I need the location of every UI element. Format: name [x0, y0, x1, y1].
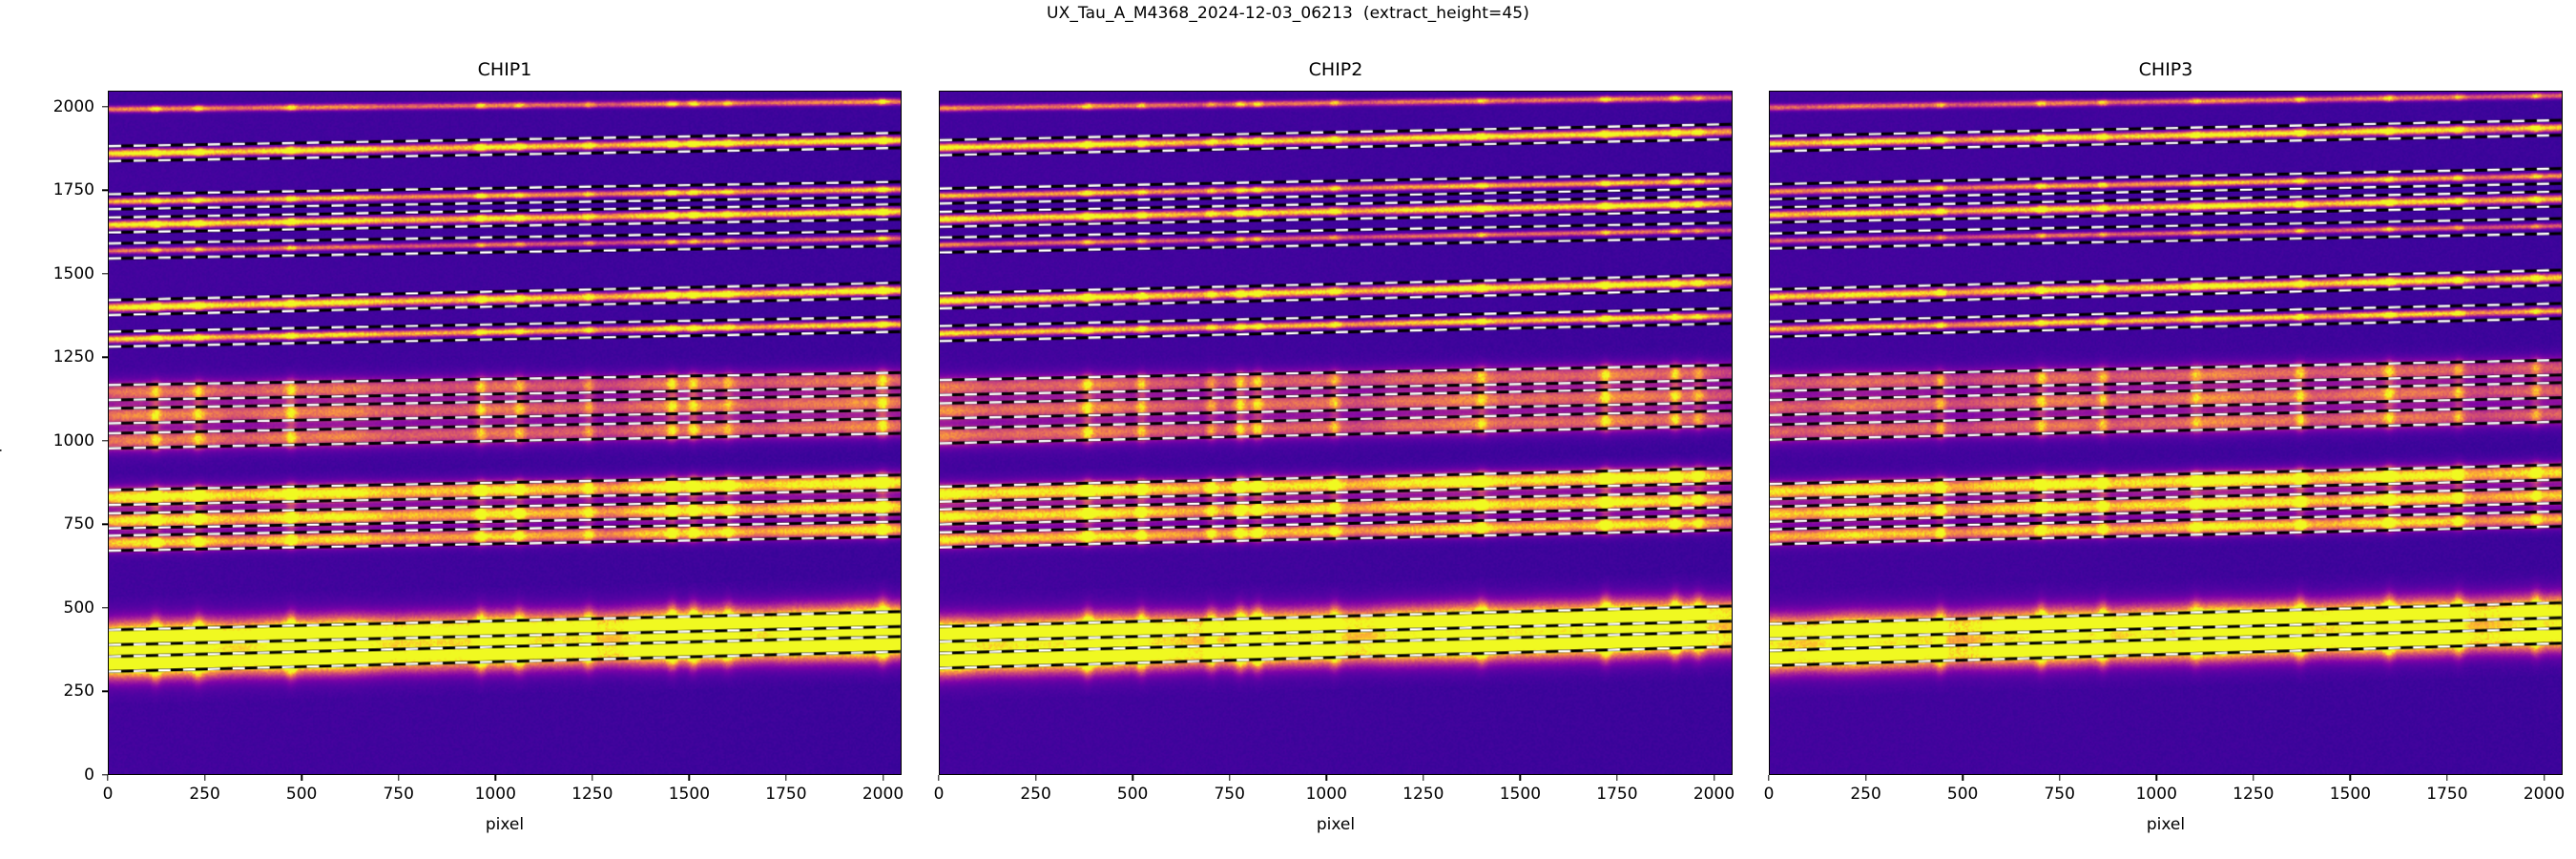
- x-tick-mark: [592, 775, 592, 781]
- y-tick-mark: [102, 106, 108, 107]
- x-tick-mark: [1326, 775, 1327, 781]
- x-tick-mark: [1962, 775, 1963, 781]
- y-tick-mark: [102, 273, 108, 274]
- x-tick-mark: [301, 775, 301, 781]
- figure-suptitle: UX_Tau_A_M4368_2024-12-03_06213 (extract…: [0, 4, 2576, 23]
- x-tick-label: 1000: [475, 785, 516, 804]
- x-tick-mark: [2059, 775, 2060, 781]
- x-tick-label: 1750: [2426, 785, 2467, 804]
- spectral-figure: UX_Tau_A_M4368_2024-12-03_06213 (extract…: [0, 0, 2576, 859]
- panel-title-chip1: CHIP1: [108, 57, 902, 82]
- y-tick-mark: [102, 357, 108, 358]
- x-tick-mark: [1229, 775, 1230, 781]
- detector-panel-chip3[interactable]: [1769, 91, 2563, 775]
- detector-image-chip1: [109, 92, 901, 774]
- x-tick-mark: [2446, 775, 2447, 781]
- x-tick-mark: [1035, 775, 1036, 781]
- x-tick-mark: [1423, 775, 1423, 781]
- x-tick-mark: [204, 775, 205, 781]
- x-tick-label: 0: [1764, 785, 1775, 804]
- y-tick-mark: [102, 524, 108, 525]
- y-tick-label: 2000: [9, 97, 94, 116]
- x-tick-label: 250: [1850, 785, 1880, 804]
- x-tick-label: 1750: [1596, 785, 1637, 804]
- x-tick-mark: [107, 775, 108, 781]
- x-tick-label: 1000: [2136, 785, 2177, 804]
- x-tick-label: 250: [1020, 785, 1050, 804]
- x-tick-mark: [1865, 775, 1866, 781]
- x-tick-label: 750: [1214, 785, 1244, 804]
- y-tick-label: 0: [9, 765, 94, 785]
- x-tick-mark: [938, 775, 939, 781]
- panel-title-chip3: CHIP3: [1769, 57, 2563, 82]
- x-tick-label: 1750: [765, 785, 806, 804]
- x-tick-mark: [2350, 775, 2351, 781]
- detector-image-chip2: [940, 92, 1732, 774]
- x-tick-mark: [398, 775, 399, 781]
- x-axis-label-chip3: pixel: [1769, 815, 2563, 834]
- x-tick-label: 1250: [571, 785, 613, 804]
- x-tick-mark: [1714, 775, 1714, 781]
- x-tick-label: 2000: [2524, 785, 2565, 804]
- x-tick-label: 2000: [862, 785, 904, 804]
- y-tick-label: 250: [9, 681, 94, 701]
- x-tick-mark: [689, 775, 690, 781]
- x-tick-mark: [1520, 775, 1521, 781]
- x-tick-mark: [2253, 775, 2254, 781]
- y-tick-mark: [102, 190, 108, 191]
- x-tick-label: 0: [103, 785, 114, 804]
- x-tick-mark: [1132, 775, 1132, 781]
- x-tick-label: 1500: [2330, 785, 2371, 804]
- y-tick-mark: [102, 774, 108, 775]
- x-tick-mark: [785, 775, 786, 781]
- x-tick-label: 0: [934, 785, 945, 804]
- x-tick-mark: [883, 775, 883, 781]
- x-axis-label-chip1: pixel: [108, 815, 902, 834]
- x-tick-label: 500: [1117, 785, 1148, 804]
- detector-image-chip3: [1770, 92, 2562, 774]
- x-tick-mark: [495, 775, 496, 781]
- x-tick-label: 2000: [1693, 785, 1735, 804]
- x-tick-label: 500: [286, 785, 317, 804]
- x-tick-mark: [2156, 775, 2157, 781]
- y-tick-label: 1250: [9, 347, 94, 367]
- x-tick-label: 1250: [1402, 785, 1444, 804]
- x-tick-label: 1000: [1306, 785, 1347, 804]
- x-tick-label: 1500: [1500, 785, 1541, 804]
- x-tick-mark: [1616, 775, 1617, 781]
- x-tick-mark: [1768, 775, 1769, 781]
- detector-panel-chip1[interactable]: [108, 91, 902, 775]
- y-tick-label: 500: [9, 598, 94, 618]
- x-tick-label: 250: [189, 785, 219, 804]
- x-tick-label: 750: [383, 785, 413, 804]
- panel-title-chip2: CHIP2: [939, 57, 1733, 82]
- y-tick-label: 750: [9, 514, 94, 534]
- x-tick-label: 500: [1947, 785, 1978, 804]
- y-tick-mark: [102, 440, 108, 441]
- y-tick-label: 1000: [9, 431, 94, 450]
- y-axis-label: pixel: [0, 367, 3, 500]
- x-axis-label-chip2: pixel: [939, 815, 1733, 834]
- x-tick-label: 750: [2044, 785, 2074, 804]
- x-tick-mark: [2544, 775, 2545, 781]
- x-tick-label: 1250: [2233, 785, 2274, 804]
- y-tick-mark: [102, 607, 108, 608]
- y-tick-mark: [102, 691, 108, 692]
- y-tick-label: 1500: [9, 264, 94, 283]
- y-tick-label: 1750: [9, 180, 94, 199]
- detector-panel-chip2[interactable]: [939, 91, 1733, 775]
- x-tick-label: 1500: [669, 785, 710, 804]
